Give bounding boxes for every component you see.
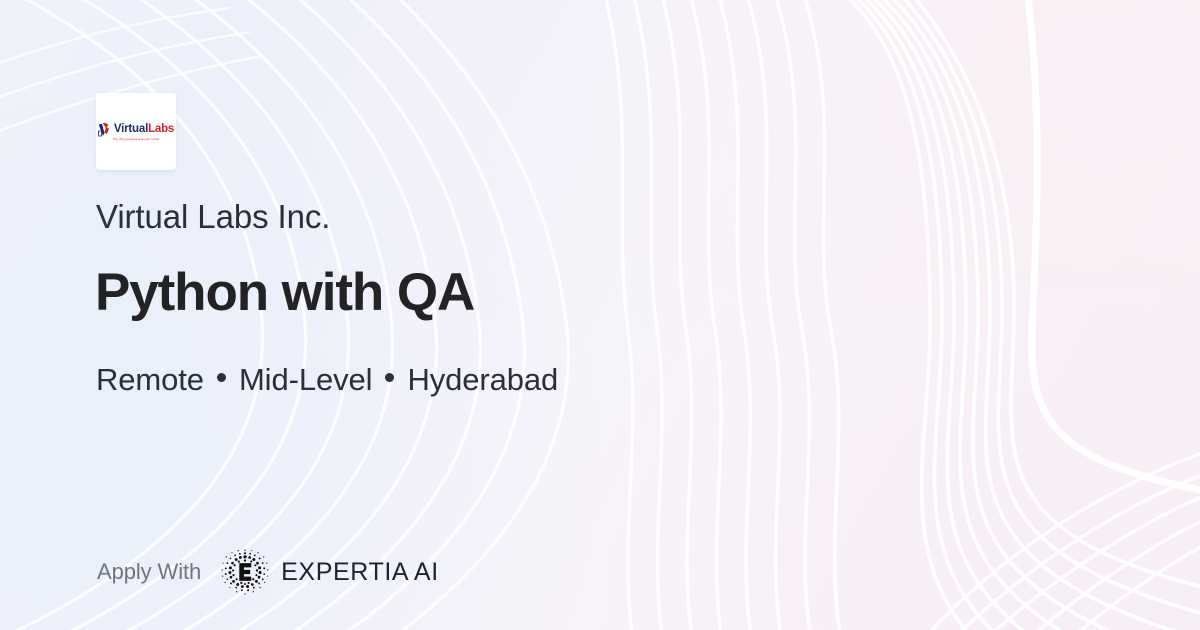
apply-with-footer[interactable]: Apply With (97, 546, 439, 598)
company-logo-word-primary: Virtual (114, 123, 148, 135)
virtuallabs-vl-monogram-icon (98, 122, 111, 137)
company-logo-wordmark: VirtualLabs (114, 124, 174, 136)
job-meta-separator-icon (217, 373, 226, 382)
expertia-halftone-e-icon (219, 546, 271, 598)
expertia-wordmark: EXPERTIA AI (281, 560, 439, 585)
job-post-share-card: VirtualLabs The thing presses and your b… (0, 0, 1200, 630)
company-logo-tagline: The thing presses and your brand (113, 138, 159, 141)
job-meta-seniority: Mid-Level (239, 361, 372, 398)
job-meta-separator-icon (385, 373, 394, 382)
company-logo-card: VirtualLabs The thing presses and your b… (96, 93, 176, 170)
apply-with-label: Apply With (97, 561, 201, 583)
company-logo-row: VirtualLabs (98, 122, 174, 137)
job-meta: Remote Mid-Level Hyderabad (96, 361, 558, 398)
job-meta-location: Hyderabad (407, 361, 558, 398)
company-logo-word-secondary: Labs (148, 123, 174, 135)
job-meta-work-mode: Remote (96, 361, 204, 398)
card-content: VirtualLabs The thing presses and your b… (0, 0, 1200, 630)
company-logo: VirtualLabs The thing presses and your b… (99, 122, 173, 141)
company-name: Virtual Labs Inc. (96, 198, 330, 236)
job-title: Python with QA (95, 264, 474, 322)
